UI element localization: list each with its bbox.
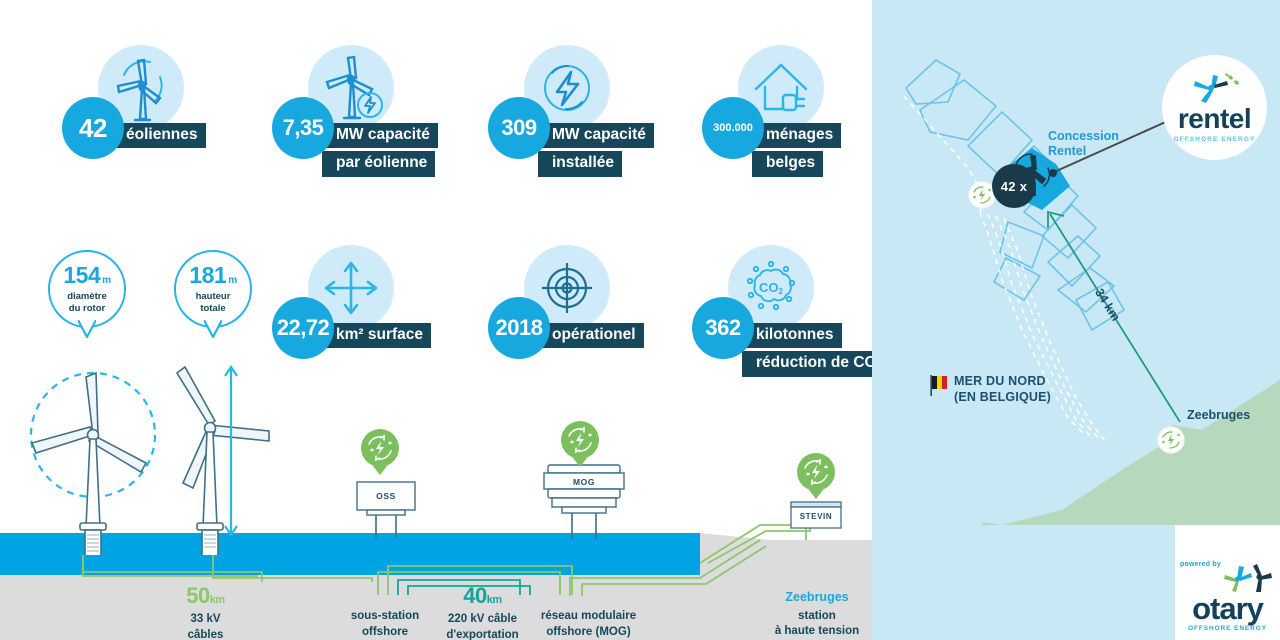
callout-bubble: 181m hauteur totale xyxy=(174,250,252,328)
callout-total-height[interactable]: 181m hauteur totale xyxy=(174,250,252,328)
callout-tail-icon xyxy=(78,320,96,338)
stat-labels: ménages belges xyxy=(752,123,841,180)
stat-value-badge: 300.000 xyxy=(702,97,764,159)
stat-label-line: opérationel xyxy=(538,323,644,348)
otary-logo-box[interactable]: powered by xyxy=(1175,525,1280,640)
stat-value-badge: 2018 xyxy=(488,297,550,359)
mog-platform[interactable]: MOG xyxy=(542,463,626,546)
oss-label: OSS xyxy=(355,491,417,501)
mog-label: MOG xyxy=(542,477,626,487)
rentel-tagline: OFFSHORE ENERGY xyxy=(1174,136,1256,143)
stat-label-line: MW capacité xyxy=(538,123,654,148)
rentel-logo-badge[interactable]: rentel OFFSHORE ENERGY xyxy=(1162,55,1267,160)
stat-label-line: MW capacité xyxy=(322,123,438,148)
stat-label-line: km² surface xyxy=(322,323,431,348)
callout-sublabel: hauteur totale xyxy=(196,291,231,315)
stat-labels: km² surface xyxy=(322,323,431,351)
stat-value-badge: 42 xyxy=(62,97,124,159)
distance-arrow-34km xyxy=(1032,200,1212,440)
green-energy-pin-mog[interactable] xyxy=(560,420,600,473)
callout-value: 181m xyxy=(189,264,236,287)
otary-wordmark: otary xyxy=(1192,595,1263,623)
stat-label-line: réduction de CO₂ xyxy=(742,351,872,376)
stat-label-line: installée xyxy=(538,151,622,176)
callout-sublabel: diamètre du rotor xyxy=(67,291,107,315)
stat-labels: kilotonnes réduction de CO₂ xyxy=(742,323,872,380)
oss-platform[interactable]: OSS xyxy=(355,480,417,545)
stat-label-line: éoliennes xyxy=(112,123,206,148)
legend-description: réseau modulaire offshore (MOG) xyxy=(516,609,661,640)
belgium-flag-icon xyxy=(928,374,948,396)
legend-description: 33 kV câbles xyxy=(148,612,263,640)
stevin-label: STEVIN xyxy=(789,512,843,521)
callout-unit: m xyxy=(102,275,110,286)
callout-value: 154m xyxy=(63,264,110,287)
legend-33kv-cables: 50km 33 kV câbles xyxy=(148,585,263,640)
rentel-turbine-logo-icon xyxy=(1187,72,1243,104)
stat-value-badge: 7,35 xyxy=(272,97,334,159)
sea-name-label: MER DU NORD (EN BELGIQUE) xyxy=(954,374,1051,405)
concession-rentel-label: Concession Rentel xyxy=(1048,129,1119,160)
otary-tagline: OFFSHORE ENERGY xyxy=(1188,625,1267,632)
turbine-count-badge: 42 x xyxy=(992,164,1036,208)
legend-town: Zeebruges xyxy=(752,591,872,604)
legend-mog: réseau modulaire offshore (MOG) xyxy=(516,604,661,640)
stat-labels: opérationel xyxy=(538,323,644,351)
map-panel[interactable]: 42 x 34 km xyxy=(872,0,1280,640)
zeebruges-label: Zeebruges xyxy=(1187,408,1250,422)
callout-unit: m xyxy=(228,275,236,286)
stat-label-line: par éolienne xyxy=(322,151,435,176)
stat-label-line: kilotonnes xyxy=(742,323,842,348)
stat-label-line: ménages xyxy=(752,123,841,148)
rentel-wordmark: rentel xyxy=(1178,106,1251,133)
callout-bubble: 154m diamètre du rotor xyxy=(48,250,126,328)
stat-labels: MW capacité installée xyxy=(538,123,654,180)
green-energy-pin-oss[interactable] xyxy=(360,428,400,481)
callout-rotor-diameter[interactable]: 154m diamètre du rotor xyxy=(48,250,126,328)
stat-value-badge: 309 xyxy=(488,97,550,159)
green-energy-pin-stevin[interactable] xyxy=(796,452,836,505)
left-panel: 42 éoliennes xyxy=(0,0,872,640)
infographic-root: 42 éoliennes xyxy=(0,0,1280,640)
otary-powered-by: powered by xyxy=(1180,561,1221,568)
stat-labels: MW capacité par éolienne xyxy=(322,123,438,180)
stat-label-line: belges xyxy=(752,151,823,176)
stat-labels: éoliennes xyxy=(112,123,206,151)
stat-value-badge: 22,72 xyxy=(272,297,334,359)
legend-zeebruges-hv: Zeebruges station à haute tension xyxy=(752,591,872,640)
stat-value-badge: 362 xyxy=(692,297,754,359)
callout-tail-icon xyxy=(204,320,222,338)
legend-description: station à haute tension xyxy=(752,609,872,640)
legend-distance: 50km xyxy=(148,585,263,607)
svg-text:CO2: CO2 xyxy=(759,280,784,296)
stevin-station[interactable]: STEVIN xyxy=(789,500,843,535)
otary-turbine-logo-icon xyxy=(1223,561,1275,595)
